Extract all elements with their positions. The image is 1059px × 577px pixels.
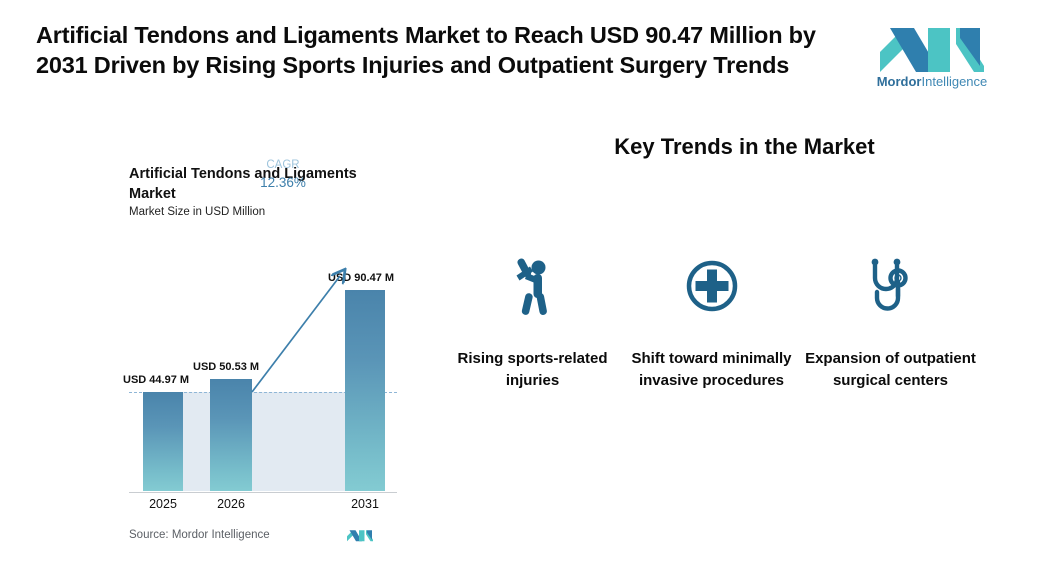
- bar-label-2026: USD 50.53 M: [193, 361, 259, 373]
- bar-2031: [345, 290, 385, 491]
- logo-word-intelligence: Intelligence: [922, 74, 988, 89]
- mordor-logo-wordmark: MordorIntelligence: [876, 74, 988, 89]
- stethoscope-icon: [803, 250, 978, 322]
- logo-word-mordor: Mordor: [877, 74, 922, 89]
- page-title: Artificial Tendons and Ligaments Market …: [36, 20, 851, 80]
- chart-subtitle: Market Size in USD Million: [129, 206, 265, 218]
- x-label-2031: 2031: [335, 497, 395, 511]
- mordor-logo-mark: [880, 22, 984, 72]
- chart-band-1: [183, 392, 210, 491]
- bar-2025: [143, 392, 183, 491]
- chart-source-row: Source: Mordor Intelligence: [129, 527, 397, 549]
- cagr-caption: CAGR: [251, 157, 315, 174]
- cagr-annotation: CAGR 12.36%: [251, 157, 315, 191]
- header: Artificial Tendons and Ligaments Market …: [0, 0, 1059, 118]
- bar-label-2025: USD 44.97 M: [123, 374, 189, 386]
- chart-panel: Artificial Tendons and Ligaments Market …: [0, 150, 430, 560]
- trend-item-3: Expansion of outpatient surgical centers: [803, 250, 978, 392]
- trend-label-1: Rising sports-related injuries: [445, 348, 620, 392]
- sports-player-icon: [445, 250, 620, 322]
- mordor-logo-mark-small: [347, 527, 373, 543]
- key-trends-panel: Key Trends in the Market Rising sports-r…: [430, 120, 1059, 560]
- trend-label-2: Shift toward minimally invasive procedur…: [624, 348, 799, 392]
- source-label: Source: Mordor Intelligence: [129, 529, 270, 541]
- trend-label-3: Expansion of outpatient surgical centers: [803, 348, 978, 392]
- mordor-intelligence-logo: MordorIntelligence: [876, 22, 988, 98]
- bar-chart-plot: USD 44.97 M USD 50.53 M USD 90.47 M CAGR…: [129, 245, 397, 491]
- x-label-2026: 2026: [201, 497, 261, 511]
- trend-item-2: Shift toward minimally invasive procedur…: [624, 250, 799, 392]
- bar-2026: [210, 379, 252, 491]
- chart-band-2: [252, 392, 345, 491]
- x-label-2025: 2025: [133, 497, 193, 511]
- medical-cross-circle-icon: [624, 250, 799, 322]
- trend-item-1: Rising sports-related injuries: [445, 250, 620, 392]
- chart-axis-line: [129, 492, 397, 494]
- key-trends-heading: Key Trends in the Market: [430, 134, 1059, 160]
- bar-label-2031: USD 90.47 M: [328, 272, 394, 284]
- cagr-value: 12.36%: [251, 174, 315, 191]
